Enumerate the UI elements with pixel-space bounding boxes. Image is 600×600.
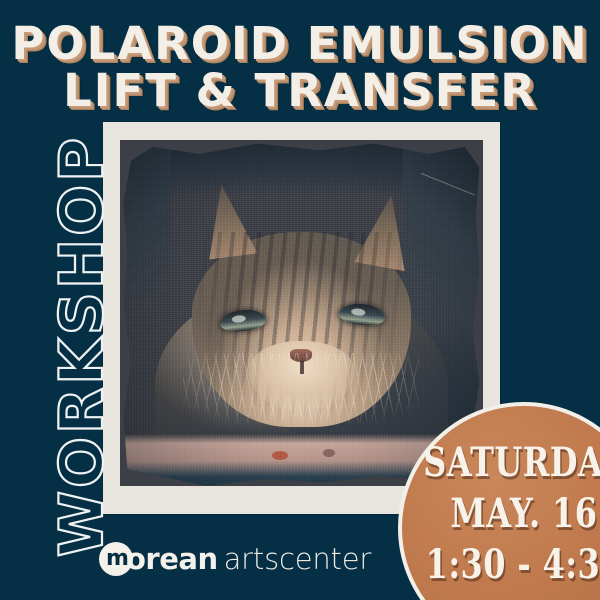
badge-date: MAY. 16 [450, 493, 597, 535]
title-line-1: POLAROID EMULSION [0, 22, 600, 66]
photo-surface-accent-dark [323, 449, 335, 457]
logo-name-light: artscenter [224, 542, 371, 576]
poster-title: POLAROID EMULSION LIFT & TRANSFER [0, 22, 600, 113]
title-line-2: LIFT & TRANSFER [0, 69, 600, 113]
poster-canvas: POLAROID EMULSION LIFT & TRANSFER WORKSH… [0, 0, 600, 600]
cat-whiskers [183, 353, 420, 423]
logo-letter-m: m [106, 549, 129, 569]
cat-head [192, 232, 412, 426]
cat-eye-shine-left [232, 314, 247, 323]
morean-arts-center-logo: m orean artscenter [99, 540, 371, 578]
emulsion-transfer-area [120, 140, 483, 486]
badge-day: SATURDAY [423, 442, 600, 484]
logo-monogram-icon: m [99, 542, 133, 576]
badge-time: 1:30 - 4:30 [425, 544, 600, 586]
logo-name-bold: orean [126, 542, 218, 576]
cat-eye-shine-right [351, 308, 366, 317]
polaroid-photo-image [120, 140, 483, 486]
